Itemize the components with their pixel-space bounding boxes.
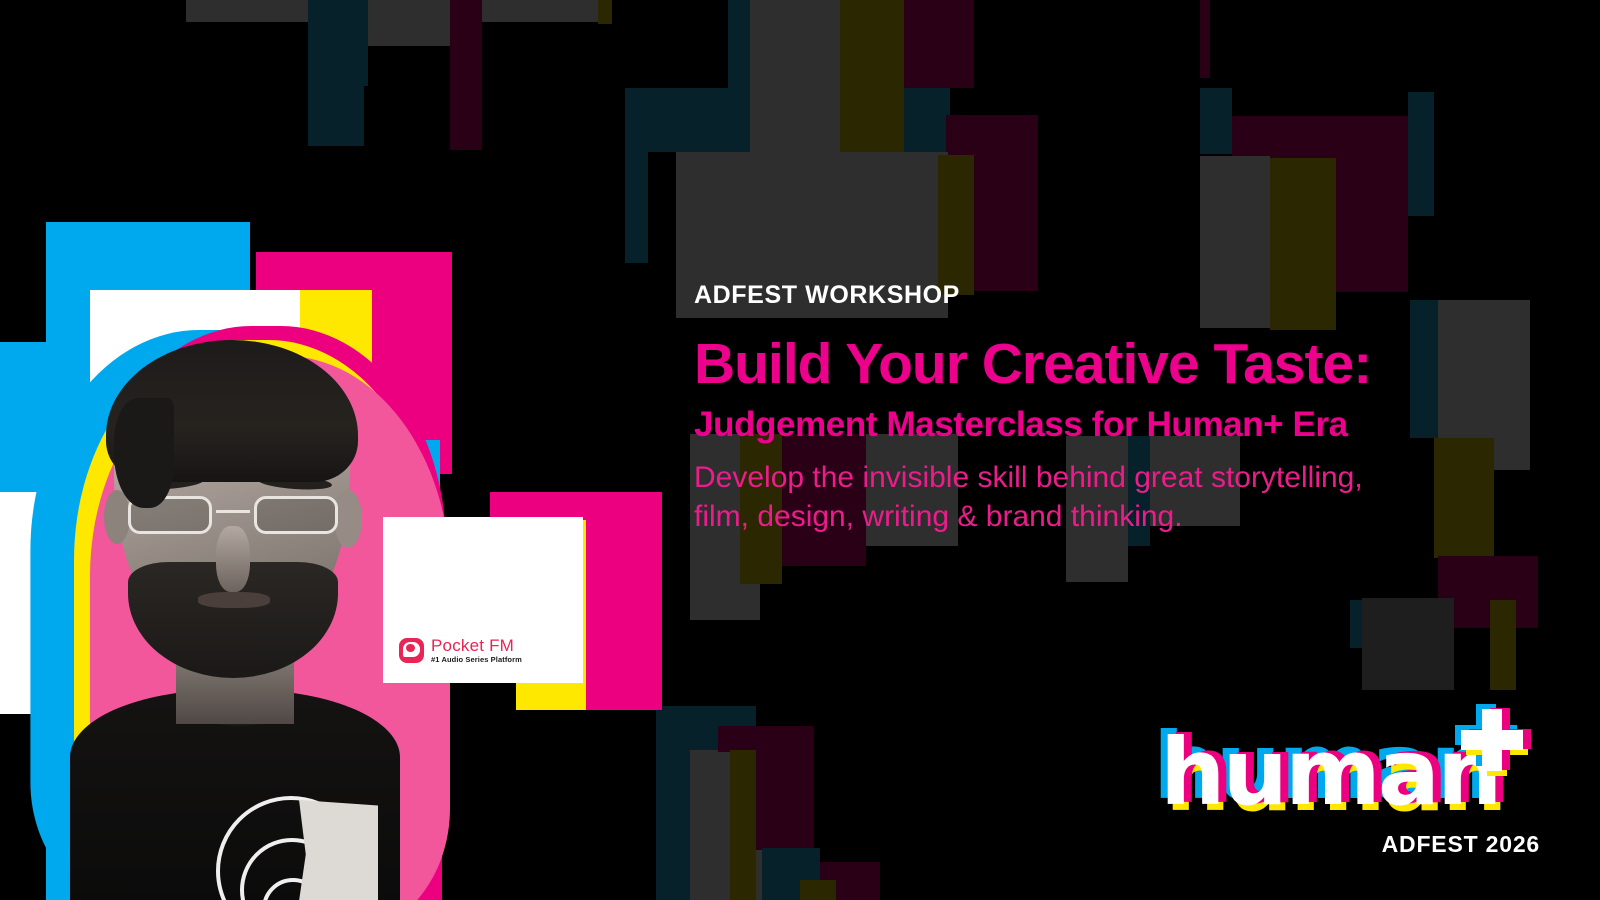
- wordmark-white-layer: human: [1160, 725, 1499, 821]
- poster-canvas: Pocket FM #1 Audio Series Platform ADFES…: [0, 0, 1600, 900]
- description-line-2: film, design, writing & brand thinking.: [694, 497, 1564, 536]
- bg-rect-18: [1200, 88, 1232, 154]
- bg-rect-13: [904, 88, 950, 154]
- logo-wordmark: human human human human: [1160, 725, 1540, 821]
- bg-rect-29: [1362, 598, 1454, 690]
- magenta-r2: [586, 520, 662, 710]
- bg-rect-7: [728, 0, 750, 92]
- sponsor-text: Pocket FM #1 Audio Series Platform: [431, 637, 522, 664]
- plus-white-icon: [1460, 709, 1480, 771]
- bg-rect-42: [756, 726, 814, 850]
- logo-subtitle: ADFEST 2026: [1382, 831, 1540, 858]
- bg-rect-28: [1490, 600, 1516, 690]
- sponsor-tagline: #1 Audio Series Platform: [431, 656, 522, 664]
- bg-rect-9: [840, 0, 904, 152]
- pocket-fm-logo: Pocket FM #1 Audio Series Platform: [399, 637, 522, 664]
- kicker-label: ADFEST WORKSHOP: [694, 282, 960, 310]
- description-line-1: Develop the invisible skill behind great…: [694, 458, 1564, 497]
- bg-rect-10: [904, 0, 974, 88]
- description-text: Develop the invisible skill behind great…: [694, 458, 1564, 536]
- human-plus-logo: human human human human ADFEST 2026: [1160, 725, 1540, 870]
- sponsor-card: Pocket FM #1 Audio Series Platform: [383, 517, 583, 683]
- tshirt-graphic-icon: [206, 792, 396, 900]
- speech-bubble-icon: [399, 638, 424, 663]
- copy-block: ADFEST WORKSHOP Build Your Creative Tast…: [694, 282, 1564, 536]
- sponsor-name: Pocket FM: [431, 637, 522, 654]
- speaker-collage: Pocket FM #1 Audio Series Platform: [0, 0, 700, 900]
- bg-rect-17: [1200, 0, 1210, 78]
- page-subtitle: Judgement Masterclass for Human+ Era: [694, 405, 1564, 444]
- speaker-figure: [88, 340, 388, 900]
- speaker-hair: [106, 340, 358, 482]
- bg-rect-16: [938, 155, 974, 295]
- speaker-portrait: [60, 340, 420, 900]
- bg-rect-22: [1408, 92, 1434, 216]
- bg-rect-46: [800, 880, 836, 900]
- bg-rect-43: [730, 750, 756, 900]
- page-title: Build Your Creative Taste:: [694, 334, 1564, 396]
- speaker-mouth: [198, 592, 270, 608]
